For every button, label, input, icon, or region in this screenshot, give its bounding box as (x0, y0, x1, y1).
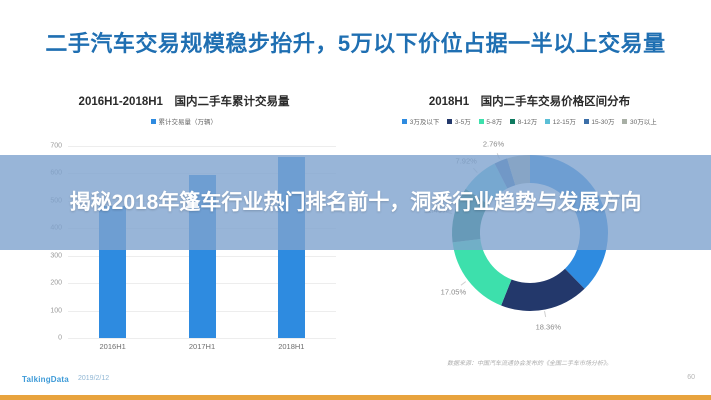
legend-item-label: 12-15万 (553, 116, 576, 126)
legend-swatch-icon (479, 119, 484, 124)
legend-item-label: 5-8万 (486, 116, 502, 126)
legend-item-label: 30万以上 (630, 116, 657, 126)
legend-swatch-icon (510, 119, 515, 124)
legend-swatch-icon (447, 119, 452, 124)
footer-date: 2019/2/12 (78, 375, 109, 382)
bar-chart-legend: 累计交易量（万辆） (14, 116, 354, 126)
legend-item-label: 8-12万 (518, 116, 538, 126)
legend-item-label: 3万及以下 (410, 116, 440, 126)
overlay-title-line1: 揭秘2018年篷车行业热门排名前十，洞悉行业 (70, 191, 495, 214)
gridline (68, 338, 336, 339)
top-rule (0, 0, 711, 9)
slide-canvas: 二手汽车交易规模稳步抬升，5万以下价位占据一半以上交易量 2016H1-2018… (0, 0, 711, 400)
y-axis-tick-label: 700 (36, 143, 62, 150)
legend-item: 12-15万 (545, 116, 576, 126)
x-axis-tick-label: 2017H1 (189, 342, 215, 351)
legend-item: 累计交易量（万辆） (151, 116, 217, 126)
legend-swatch-icon (622, 119, 627, 124)
donut-slice-label: 18.36% (536, 323, 561, 332)
overlay-title-line2: 趋势与发展方向 (494, 191, 641, 214)
bar-chart-title: 2016H1-2018H1 国内二手车累计交易量 (14, 93, 354, 109)
legend-swatch-icon (402, 119, 407, 124)
legend-swatch-icon (584, 119, 589, 124)
legend-item: 3万及以下 (402, 116, 439, 126)
page-title: 二手汽车交易规模稳步抬升，5万以下价位占据一半以上交易量 (0, 26, 711, 58)
bar-chart-x-axis: 2016H12017H12018H1 (68, 342, 336, 356)
x-axis-tick-label: 2018H1 (278, 342, 304, 351)
legend-item-label: 3-5万 (455, 116, 471, 126)
donut-slice-label: 2.76% (483, 140, 504, 149)
bottom-accent-rule (0, 395, 711, 400)
overlay-title-band: 揭秘2018年篷车行业热门排名前十，洞悉行业趋势与发展方向 (0, 155, 711, 250)
y-axis-tick-label: 300 (36, 252, 62, 259)
legend-item-label: 累计交易量（万辆） (159, 116, 218, 126)
legend-item: 8-12万 (510, 116, 537, 126)
y-axis-tick-label: 200 (36, 280, 62, 287)
y-axis-tick-label: 0 (36, 335, 62, 342)
page-number: 60 (687, 374, 695, 381)
legend-item: 5-8万 (479, 116, 502, 126)
donut-chart-title: 2018H1 国内二手车交易价格区间分布 (362, 93, 697, 109)
x-axis-tick-label: 2016H1 (100, 342, 126, 351)
y-axis-tick-label: 100 (36, 307, 62, 314)
legend-item-label: 15-30万 (591, 116, 614, 126)
source-note: 数据来源：中国汽车流通协会发布的《全国二手车市场分析》。 (362, 358, 697, 367)
legend-swatch-icon (545, 119, 550, 124)
donut-slice-label: 17.05% (441, 287, 466, 296)
legend-item: 3-5万 (447, 116, 470, 126)
legend-swatch-icon (151, 119, 156, 124)
overlay-title-text: 揭秘2018年篷车行业热门排名前十，洞悉行业趋势与发展方向 (36, 189, 676, 217)
donut-chart-legend: 3万及以下3-5万5-8万8-12万12-15万15-30万30万以上 (362, 116, 697, 126)
brand-logo: TalkingData (22, 375, 69, 384)
legend-item: 30万以上 (622, 116, 656, 126)
legend-item: 15-30万 (584, 116, 615, 126)
